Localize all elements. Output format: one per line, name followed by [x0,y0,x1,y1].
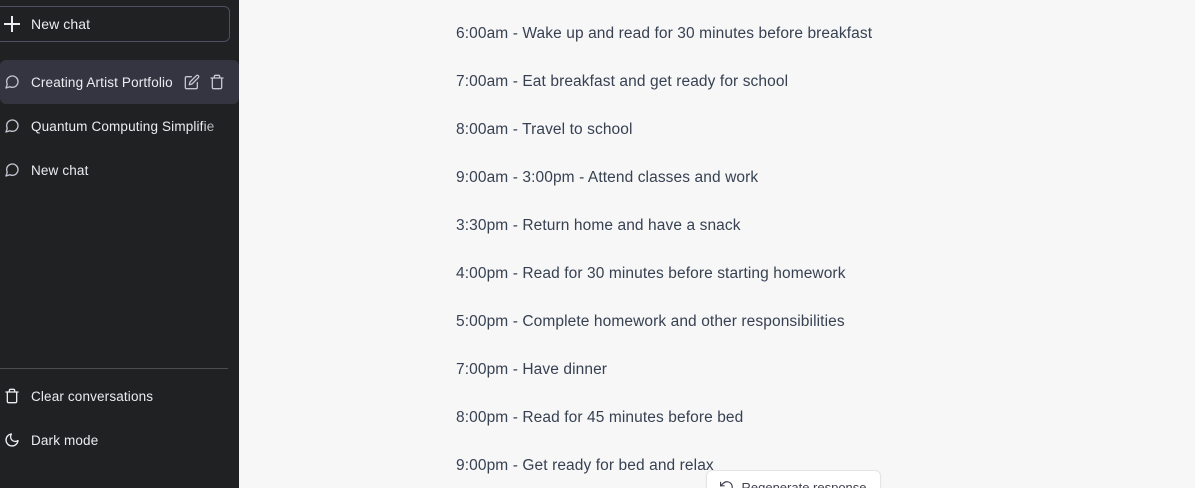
trash-icon[interactable] [209,74,225,90]
conversation-title: Quantum Computing Simplifie [31,119,239,134]
conversation-actions [184,74,239,90]
schedule-line: 8:00am - Travel to school [456,106,1156,154]
edit-icon[interactable] [184,74,200,90]
sidebar-footer-menu: Clear conversations Dark mode [0,374,239,462]
dark-mode-label: Dark mode [31,433,98,448]
assistant-message-schedule: 6:00am - Wake up and read for 30 minutes… [456,10,1156,488]
chat-bubble-icon [4,74,20,90]
schedule-line: 4:00pm - Read for 30 minutes before star… [456,250,1156,298]
schedule-line: 7:00am - Eat breakfast and get ready for… [456,58,1156,106]
conversation-item-creating-artist-portfolio[interactable]: Creating Artist Portfolio [0,60,239,104]
conversation-item-new-chat[interactable]: New chat [0,148,239,192]
schedule-line: 8:00pm - Read for 45 minutes before bed [456,394,1156,442]
schedule-line: 6:00am - Wake up and read for 30 minutes… [456,10,1156,58]
new-chat-button[interactable]: New chat [0,6,230,42]
conversation-title: New chat [31,163,239,178]
new-chat-label: New chat [31,16,90,32]
chat-bubble-icon [4,162,20,178]
schedule-line: 3:30pm - Return home and have a snack [456,202,1156,250]
clear-conversations-label: Clear conversations [31,389,153,404]
trash-icon [4,388,20,404]
clear-conversations-button[interactable]: Clear conversations [0,374,239,418]
conversation-title: Creating Artist Portfolio [31,75,173,90]
schedule-line: 9:00am - 3:00pm - Attend classes and wor… [456,154,1156,202]
plus-icon [4,16,20,32]
chat-bubble-icon [4,118,20,134]
schedule-line: 7:00pm - Have dinner [456,346,1156,394]
conversation-list: Creating Artist Portfolio [0,60,239,192]
conversation-item-quantum-computing-simplified[interactable]: Quantum Computing Simplifie [0,104,239,148]
dark-mode-toggle[interactable]: Dark mode [0,418,239,462]
moon-icon [4,432,20,448]
regenerate-response-label: Regenerate response [741,480,866,488]
regenerate-response-button[interactable]: Regenerate response [706,470,881,488]
refresh-icon [720,480,734,488]
schedule-line: 5:00pm - Complete homework and other res… [456,298,1156,346]
main-content: 6:00am - Wake up and read for 30 minutes… [239,0,1195,488]
sidebar: New chat Creating Artist Portfolio [0,0,239,488]
sidebar-divider [0,368,228,369]
